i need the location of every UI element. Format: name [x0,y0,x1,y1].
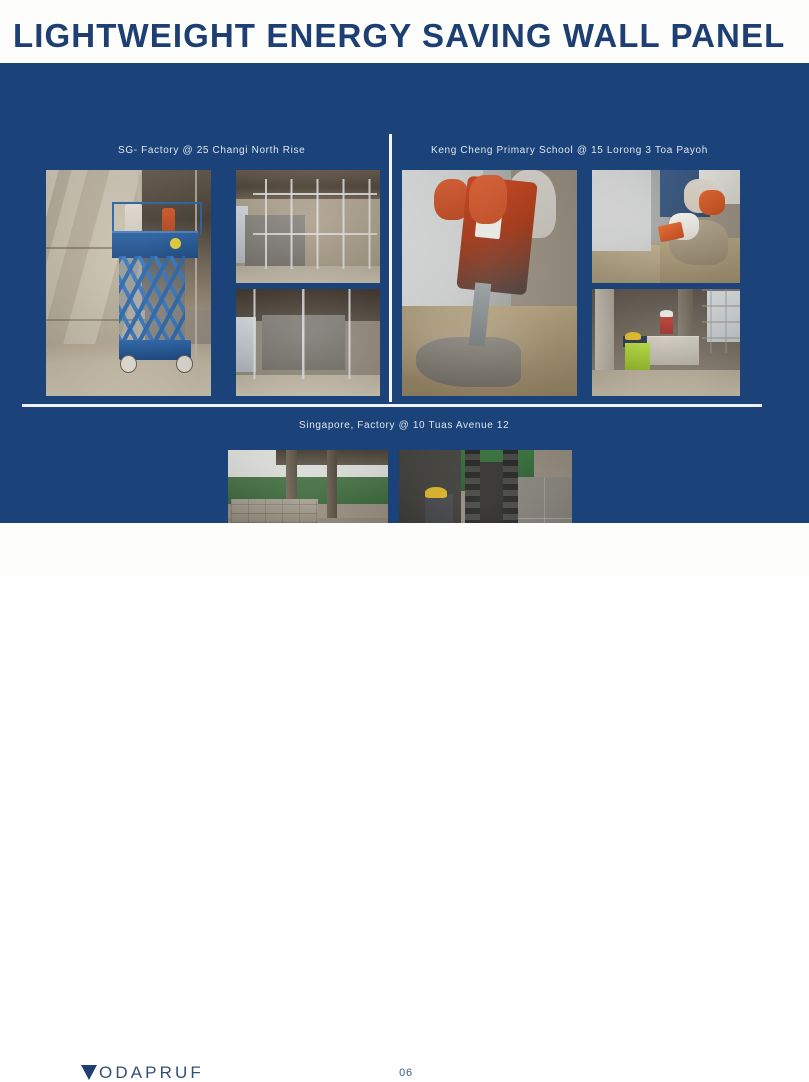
brand-logo-text: ODAPRUF [99,1064,204,1081]
photo-steel-stud-framing-lower [236,289,380,396]
triangle-v-icon [81,1065,97,1080]
horizontal-divider [22,404,762,407]
page-title: LIGHTWEIGHT ENERGY SAVING WALL PANEL [13,17,785,55]
photo-worker-installing-wall-panel [592,289,740,396]
photo-hands-applying-mortar [592,170,740,283]
caption-right-section: Keng Cheng Primary School @ 15 Lorong 3 … [431,145,708,156]
page-number: 06 [386,1067,426,1079]
photo-scissor-lift-at-concrete-wall [46,170,211,396]
caption-bottom-section: Singapore, Factory @ 10 Tuas Avenue 12 [299,420,509,431]
vertical-divider [389,134,392,402]
slide-footer: ODAPRUF 06 [0,523,809,576]
caption-left-section: SG- Factory @ 25 Changi North Rise [118,145,305,156]
slide: LIGHTWEIGHT ENERGY SAVING WALL PANEL SG-… [0,0,809,576]
photo-rotary-hammer-drilling-panel-base [402,170,577,396]
slide-header: LIGHTWEIGHT ENERGY SAVING WALL PANEL [0,0,809,63]
brand-logo: ODAPRUF [81,1062,204,1082]
photo-steel-stud-framing-upper [236,170,380,283]
content-panel: SG- Factory @ 25 Changi North Rise Keng … [0,63,809,523]
